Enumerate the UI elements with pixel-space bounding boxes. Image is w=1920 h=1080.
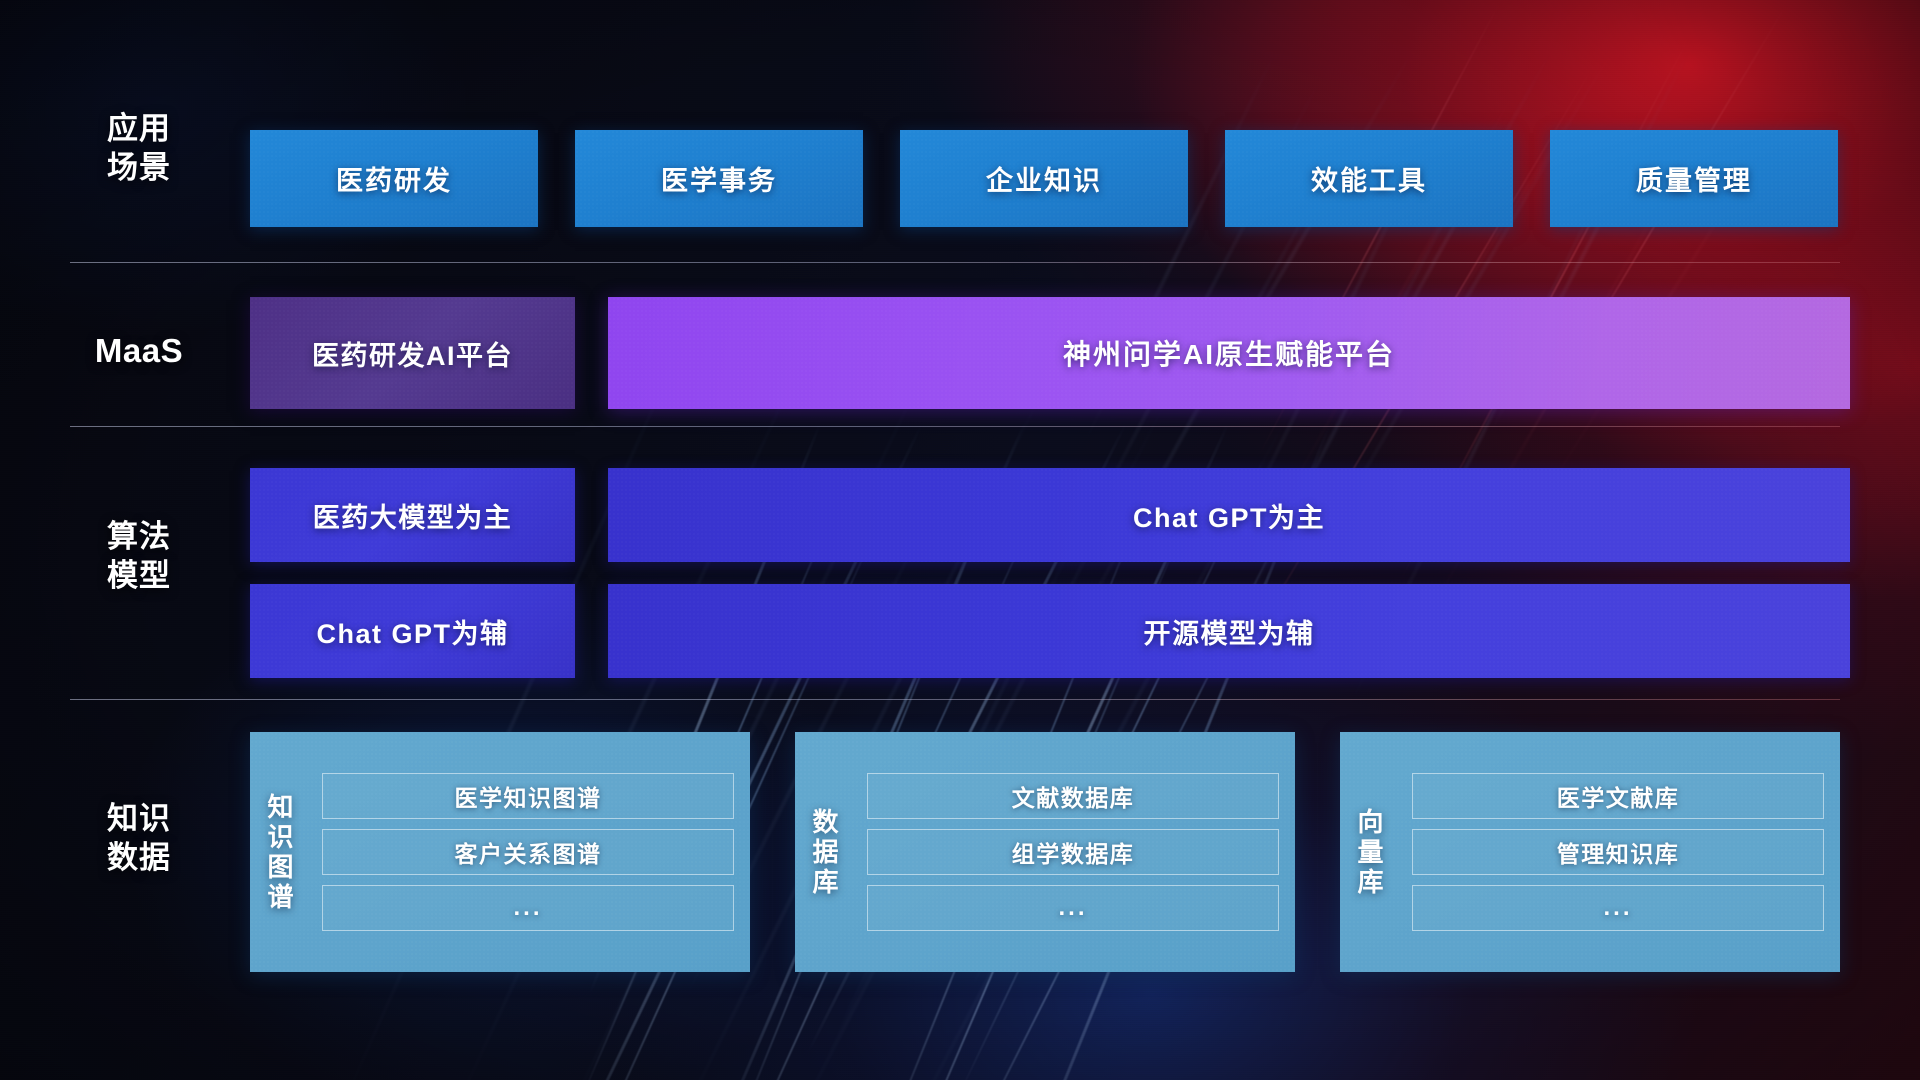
maas-left-label: 医药研发AI平台	[312, 334, 513, 373]
algorithm-secondary-row: Chat GPT为辅 开源模型为辅	[250, 584, 1850, 678]
knowledge-card-vector-title: 向量库	[1340, 732, 1402, 972]
maas-left-block[interactable]: 医药研发AI平台	[250, 297, 575, 409]
row-label-maas: MaaS	[74, 330, 204, 371]
knowledge-item[interactable]: 文献数据库	[867, 773, 1279, 819]
algorithm-secondary-left-block[interactable]: Chat GPT为辅	[250, 584, 575, 678]
application-block-1[interactable]: 医药研发	[250, 130, 538, 227]
knowledge-item[interactable]: 医学知识图谱	[322, 773, 734, 819]
row-label-algorithm: 算法 模型	[74, 518, 204, 596]
application-row: 医药研发 医学事务 企业知识 效能工具 质量管理	[250, 130, 1838, 227]
divider-application-maas	[70, 262, 1840, 263]
knowledge-card-vector[interactable]: 向量库 医学文献库 管理知识库 ...	[1340, 732, 1840, 972]
knowledge-card-graph[interactable]: 知识图谱 医学知识图谱 客户关系图谱 ...	[250, 732, 750, 972]
knowledge-item[interactable]: 医学文献库	[1412, 773, 1824, 819]
application-block-4-label: 效能工具	[1311, 159, 1427, 198]
knowledge-card-graph-title: 知识图谱	[250, 732, 312, 972]
algorithm-secondary-right-label: 开源模型为辅	[1144, 612, 1315, 651]
algorithm-primary-right-label: Chat GPT为主	[1133, 496, 1325, 535]
maas-right-block[interactable]: 神州问学AI原生赋能平台	[608, 297, 1850, 409]
application-block-5-label: 质量管理	[1636, 159, 1752, 198]
algorithm-primary-row: 医药大模型为主 Chat GPT为主	[250, 468, 1850, 562]
divider-algorithm-knowledge	[70, 699, 1840, 700]
application-block-3-label: 企业知识	[986, 159, 1102, 198]
diagram-stage: 应用 场景 医药研发 医学事务 企业知识 效能工具 质量管理 MaaS 医药研发…	[0, 0, 1920, 1080]
knowledge-item[interactable]: 管理知识库	[1412, 829, 1824, 875]
application-block-4[interactable]: 效能工具	[1225, 130, 1513, 227]
knowledge-item[interactable]: 客户关系图谱	[322, 829, 734, 875]
divider-maas-algorithm	[70, 426, 1840, 427]
knowledge-card-database-title: 数据库	[795, 732, 857, 972]
maas-row: 医药研发AI平台 神州问学AI原生赋能平台	[250, 297, 1850, 409]
row-label-knowledge: 知识 数据	[74, 800, 204, 878]
application-block-2-label: 医学事务	[661, 159, 777, 198]
knowledge-card-graph-items: 医学知识图谱 客户关系图谱 ...	[312, 732, 750, 972]
algorithm-secondary-right-block[interactable]: 开源模型为辅	[608, 584, 1850, 678]
knowledge-item[interactable]: ...	[322, 885, 734, 931]
algorithm-primary-right-block[interactable]: Chat GPT为主	[608, 468, 1850, 562]
knowledge-card-vector-items: 医学文献库 管理知识库 ...	[1402, 732, 1840, 972]
knowledge-card-database[interactable]: 数据库 文献数据库 组学数据库 ...	[795, 732, 1295, 972]
application-block-3[interactable]: 企业知识	[900, 130, 1188, 227]
knowledge-card-database-items: 文献数据库 组学数据库 ...	[857, 732, 1295, 972]
application-block-1-label: 医药研发	[336, 159, 452, 198]
algorithm-primary-left-block[interactable]: 医药大模型为主	[250, 468, 575, 562]
knowledge-item[interactable]: 组学数据库	[867, 829, 1279, 875]
row-label-application: 应用 场景	[74, 110, 204, 188]
maas-right-label: 神州问学AI原生赋能平台	[1063, 333, 1395, 373]
knowledge-item[interactable]: ...	[867, 885, 1279, 931]
application-block-2[interactable]: 医学事务	[575, 130, 863, 227]
algorithm-primary-left-label: 医药大模型为主	[313, 496, 513, 535]
application-block-5[interactable]: 质量管理	[1550, 130, 1838, 227]
algorithm-secondary-left-label: Chat GPT为辅	[316, 612, 508, 651]
knowledge-item[interactable]: ...	[1412, 885, 1824, 931]
